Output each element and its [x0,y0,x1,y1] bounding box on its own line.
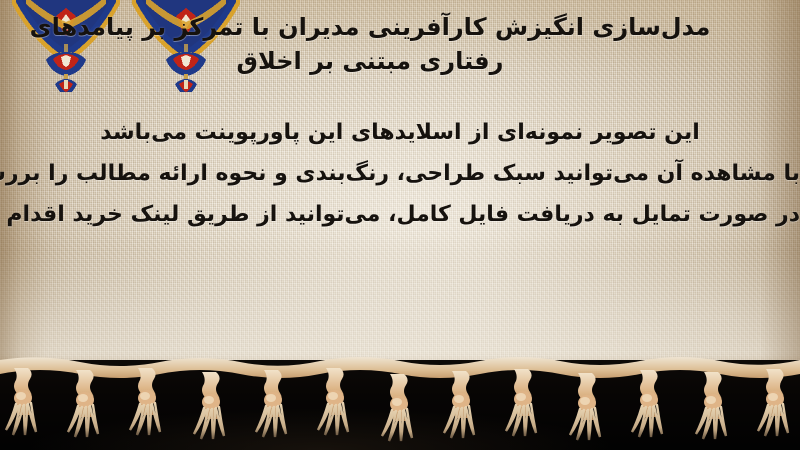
slide-title-line-2: رفتاری مبتنی بر اخلاق [0,44,740,78]
slide-body-text: این تصویر نمونه‌ای از اسلایدهای این پاور… [0,112,800,235]
body-line-1: این تصویر نمونه‌ای از اسلایدهای این پاور… [0,112,800,153]
slide-title: مدل‌سازی انگیزش کارآفرینی مدیران با تمرک… [0,10,800,78]
slide-title-line-1: مدل‌سازی انگیزش کارآفرینی مدیران با تمرک… [0,10,740,44]
body-line-3: در صورت تمایل به دریافت فایل کامل، می‌تو… [0,194,800,235]
body-line-2: با مشاهده آن می‌توانید سبک طراحی، رنگ‌بن… [0,153,800,194]
presentation-slide: مدل‌سازی انگیزش کارآفرینی مدیران با تمرک… [0,0,800,450]
carpet-fringe-tassels [0,352,800,450]
